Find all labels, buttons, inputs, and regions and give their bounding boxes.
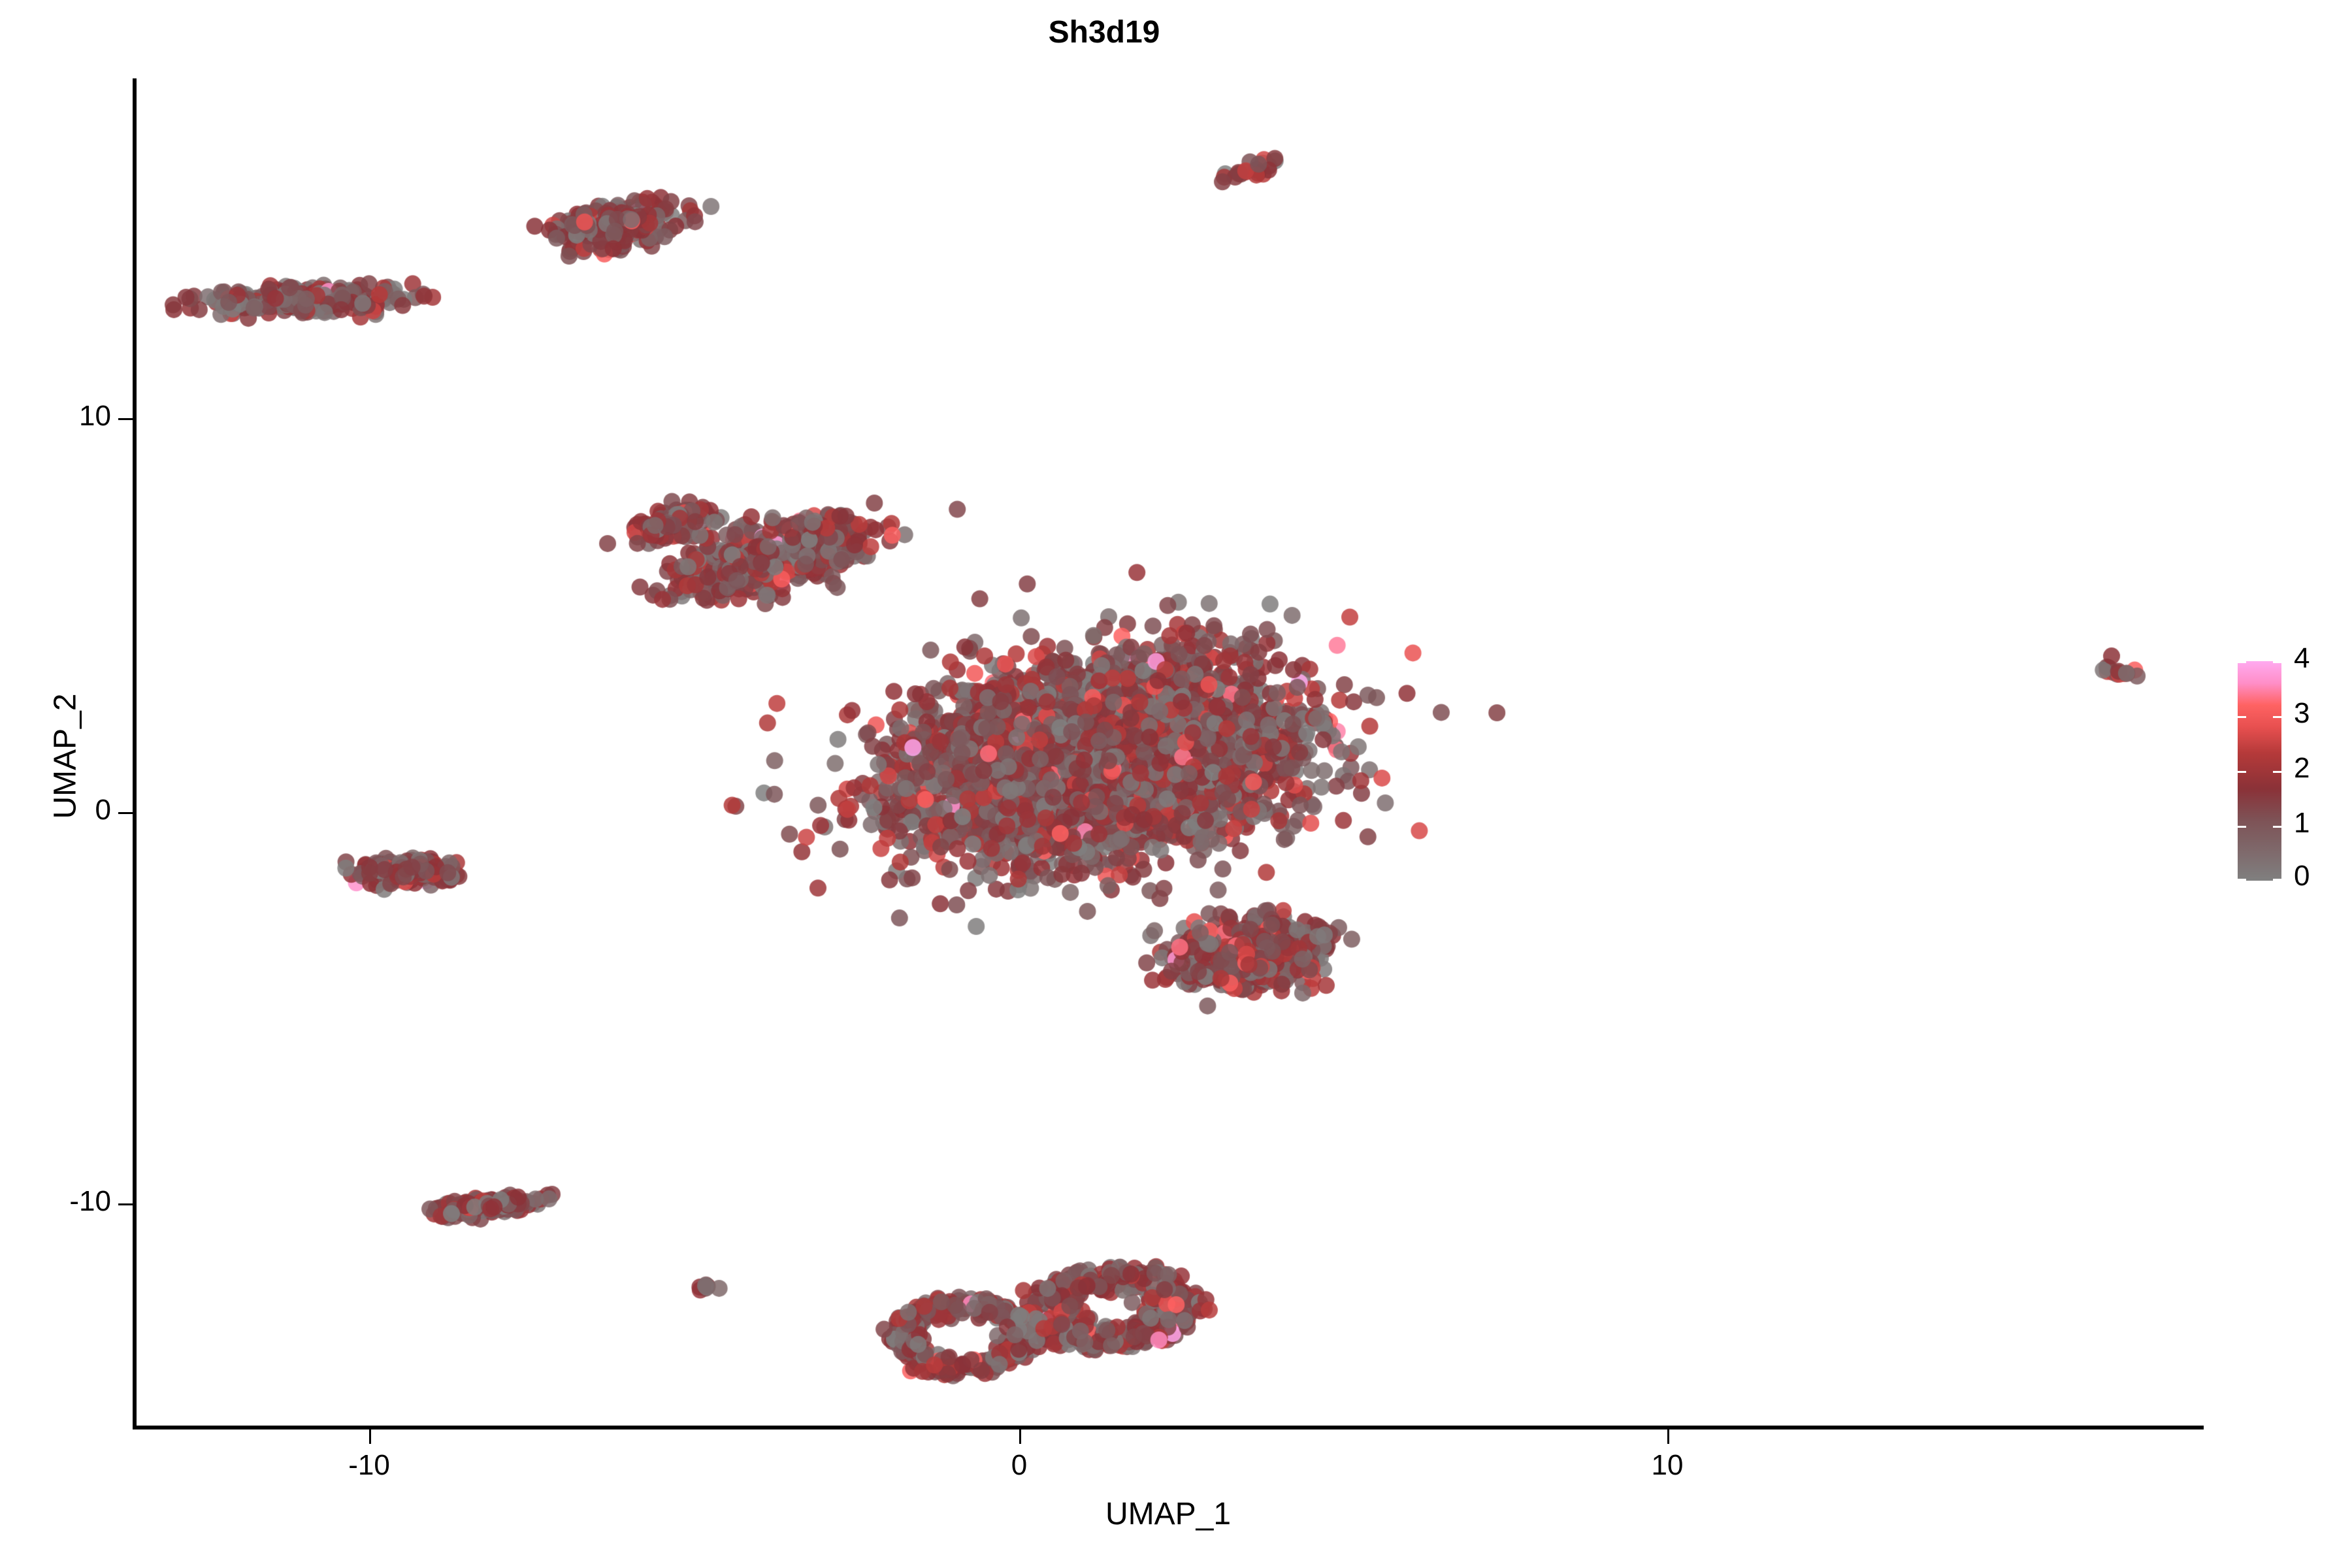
color-legend: 43210 [2238,661,2336,896]
legend-tick-mark [2273,771,2281,773]
legend-tick-mark [2238,716,2246,718]
page-title: Sh3d19 [0,14,2208,50]
legend-tick-mark [2238,826,2246,828]
umap-feature-plot: Sh3d19 -10010 100-10 UMAP_1 UMAP_2 43210 [0,0,2352,1568]
x-axis-title: UMAP_1 [133,1496,2204,1532]
x-axis-line [133,1426,2204,1429]
x-tick-label: 0 [954,1449,1085,1482]
legend-tick-mark [2238,771,2246,773]
x-tick-mark [1667,1429,1669,1444]
legend-value-label: 3 [2294,699,2310,728]
x-tick-mark [1019,1429,1021,1444]
legend-value-label: 4 [2294,644,2310,673]
y-axis-title: UMAP_2 [48,38,84,1475]
x-tick-mark [369,1429,371,1444]
legend-value-label: 2 [2294,754,2310,783]
x-tick-label: -10 [304,1449,434,1482]
legend-tick-mark [2273,879,2281,881]
legend-tick-mark [2273,716,2281,718]
y-tick-mark [118,1203,133,1205]
plot-panel [134,78,2204,1428]
y-tick-mark [118,418,133,420]
legend-tick-mark [2238,661,2246,663]
y-tick-mark [118,812,133,814]
legend-value-label: 1 [2294,809,2310,838]
legend-tick-mark [2273,826,2281,828]
legend-tick-mark [2273,661,2281,663]
legend-tick-mark [2238,879,2246,881]
y-axis-line [133,78,137,1429]
scatter-points-canvas [134,78,2204,1428]
legend-value-label: 0 [2294,862,2310,890]
x-tick-label: 10 [1602,1449,1733,1482]
